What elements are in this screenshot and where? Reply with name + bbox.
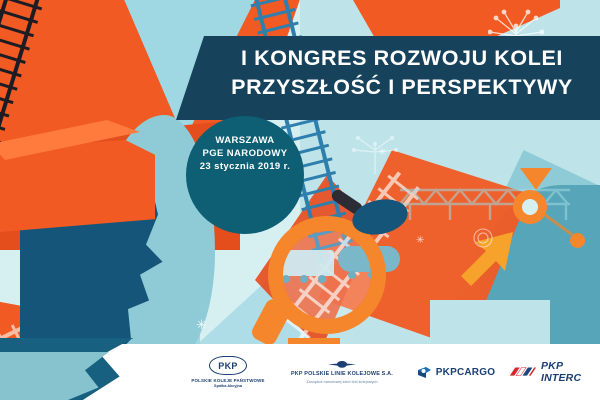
pkp-intercity-mark-icon: [508, 365, 537, 379]
pkp-mark-icon: PKP: [209, 356, 247, 375]
badge-city: WARSZAWA: [186, 134, 304, 147]
pkp-cargo-label: PKPCARGO: [436, 367, 495, 378]
node-pointer-icon: [520, 168, 552, 190]
poster-canvas: ✳ ✳ ✳ I KONGRES ROZWOJU KOLEI PRZYSZŁOŚĆ…: [0, 0, 600, 400]
page-title: I KONGRES ROZWOJU KOLEI PRZYSZŁOŚĆ I PER…: [206, 44, 598, 102]
dandelion-burst-icon: [352, 130, 398, 174]
pkp-cargo-mark-icon: [417, 365, 432, 380]
title-line-2: PRZYSZŁOŚĆ I PERSPEKTYWY: [206, 73, 598, 102]
title-line-1: I KONGRES ROZWOJU KOLEI: [241, 46, 563, 70]
pkp-intercity-label: PKP INTERC: [541, 360, 600, 384]
date-badge-text: WARSZAWA PGE NARODOWY 23 stycznia 2019 r…: [186, 134, 304, 173]
pkp-label-line2: Spółka Akcyjna: [214, 384, 242, 388]
asterisk-icon: ✳: [196, 318, 207, 331]
asterisk-icon: ✳: [416, 236, 424, 246]
logo-pkp-intercity[interactable]: PKP INTERC: [508, 360, 600, 384]
badge-venue: PGE NARODOWY: [186, 147, 304, 160]
node-endpoint-dot: [570, 233, 585, 248]
logo-pkp[interactable]: PKP POLSKIE KOLEJE PAŃSTWOWE Spółka Akcy…: [176, 356, 280, 388]
logo-pkp-plk[interactable]: PKP POLSKIE LINIE KOLEJOWE S.A. Zarządca…: [280, 360, 404, 384]
badge-date: 23 stycznia 2019 r.: [186, 160, 304, 173]
asterisk-icon: ✳: [378, 148, 386, 158]
node-connector-icon: [513, 190, 547, 224]
sponsor-logo-row: PKP POLSKIE KOLEJE PAŃSTWOWE Spółka Akcy…: [176, 348, 600, 396]
plk-wing-icon: [327, 360, 357, 369]
logo-pkp-cargo[interactable]: PKPCARGO: [404, 365, 508, 380]
pkp-label-line1: POLSKIE KOLEJE PAŃSTWOWE: [191, 378, 264, 383]
dandelion-burst-icon: [470, 225, 496, 251]
plk-label-line2: Zarządca narodowej sieci linii kolejowyc…: [306, 380, 377, 384]
plk-label-line1: PKP POLSKIE LINIE KOLEJOWE S.A.: [291, 371, 393, 377]
